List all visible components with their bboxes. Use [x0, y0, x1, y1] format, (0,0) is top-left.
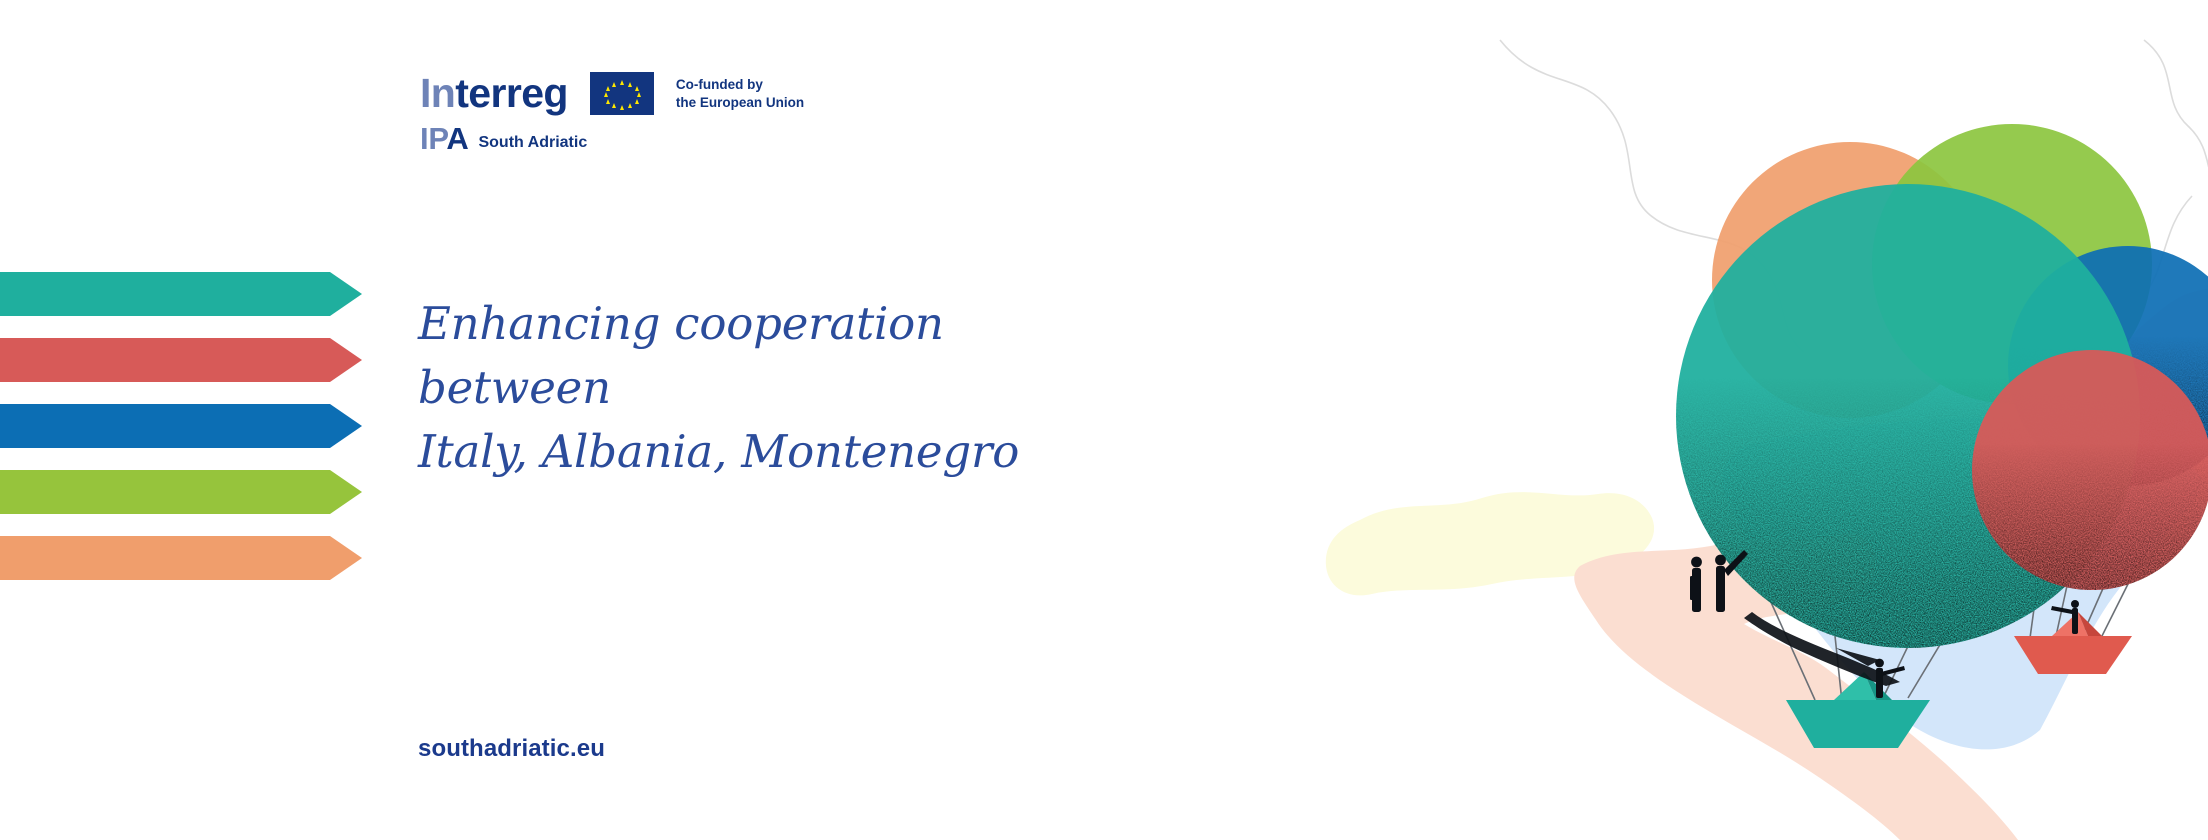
interreg-wordmark-prefix: In	[420, 70, 455, 116]
interreg-logo[interactable]: Interreg Co-funded by the European Union…	[420, 72, 804, 154]
headline-line-2: Italy, Albania, Montenegro	[418, 420, 1078, 484]
ipa-wordmark-prefix: IP	[420, 121, 446, 156]
chevron-bar-stack	[0, 272, 362, 572]
interreg-wordmark-suffix: terreg	[455, 70, 568, 116]
programme-name-label: South Adriatic	[478, 135, 587, 154]
logo-bottom-row: IPA South Adriatic	[420, 123, 804, 154]
page-title: Enhancing cooperation between Italy, Alb…	[418, 292, 1078, 484]
balloon-red	[1972, 350, 2208, 590]
headline-line-1: Enhancing cooperation between	[418, 292, 1078, 420]
interreg-banner: Interreg Co-funded by the European Union…	[0, 0, 2208, 840]
ipa-wordmark: IPA	[420, 123, 468, 154]
interreg-wordmark: Interreg	[420, 73, 568, 114]
eu-funding-caption: Co-funded by the European Union	[676, 76, 804, 111]
european-union-flag-icon	[590, 72, 654, 115]
chevron-bar-orange	[0, 536, 362, 580]
chevron-bar-green	[0, 470, 362, 514]
chevron-bar-teal	[0, 272, 362, 316]
logo-top-row: Interreg Co-funded by the European Union	[420, 72, 804, 115]
chevron-bar-red	[0, 338, 362, 382]
website-url-link[interactable]: southadriatic.eu	[418, 735, 605, 763]
chevron-bar-blue	[0, 404, 362, 448]
ipa-wordmark-suffix: A	[446, 121, 468, 156]
